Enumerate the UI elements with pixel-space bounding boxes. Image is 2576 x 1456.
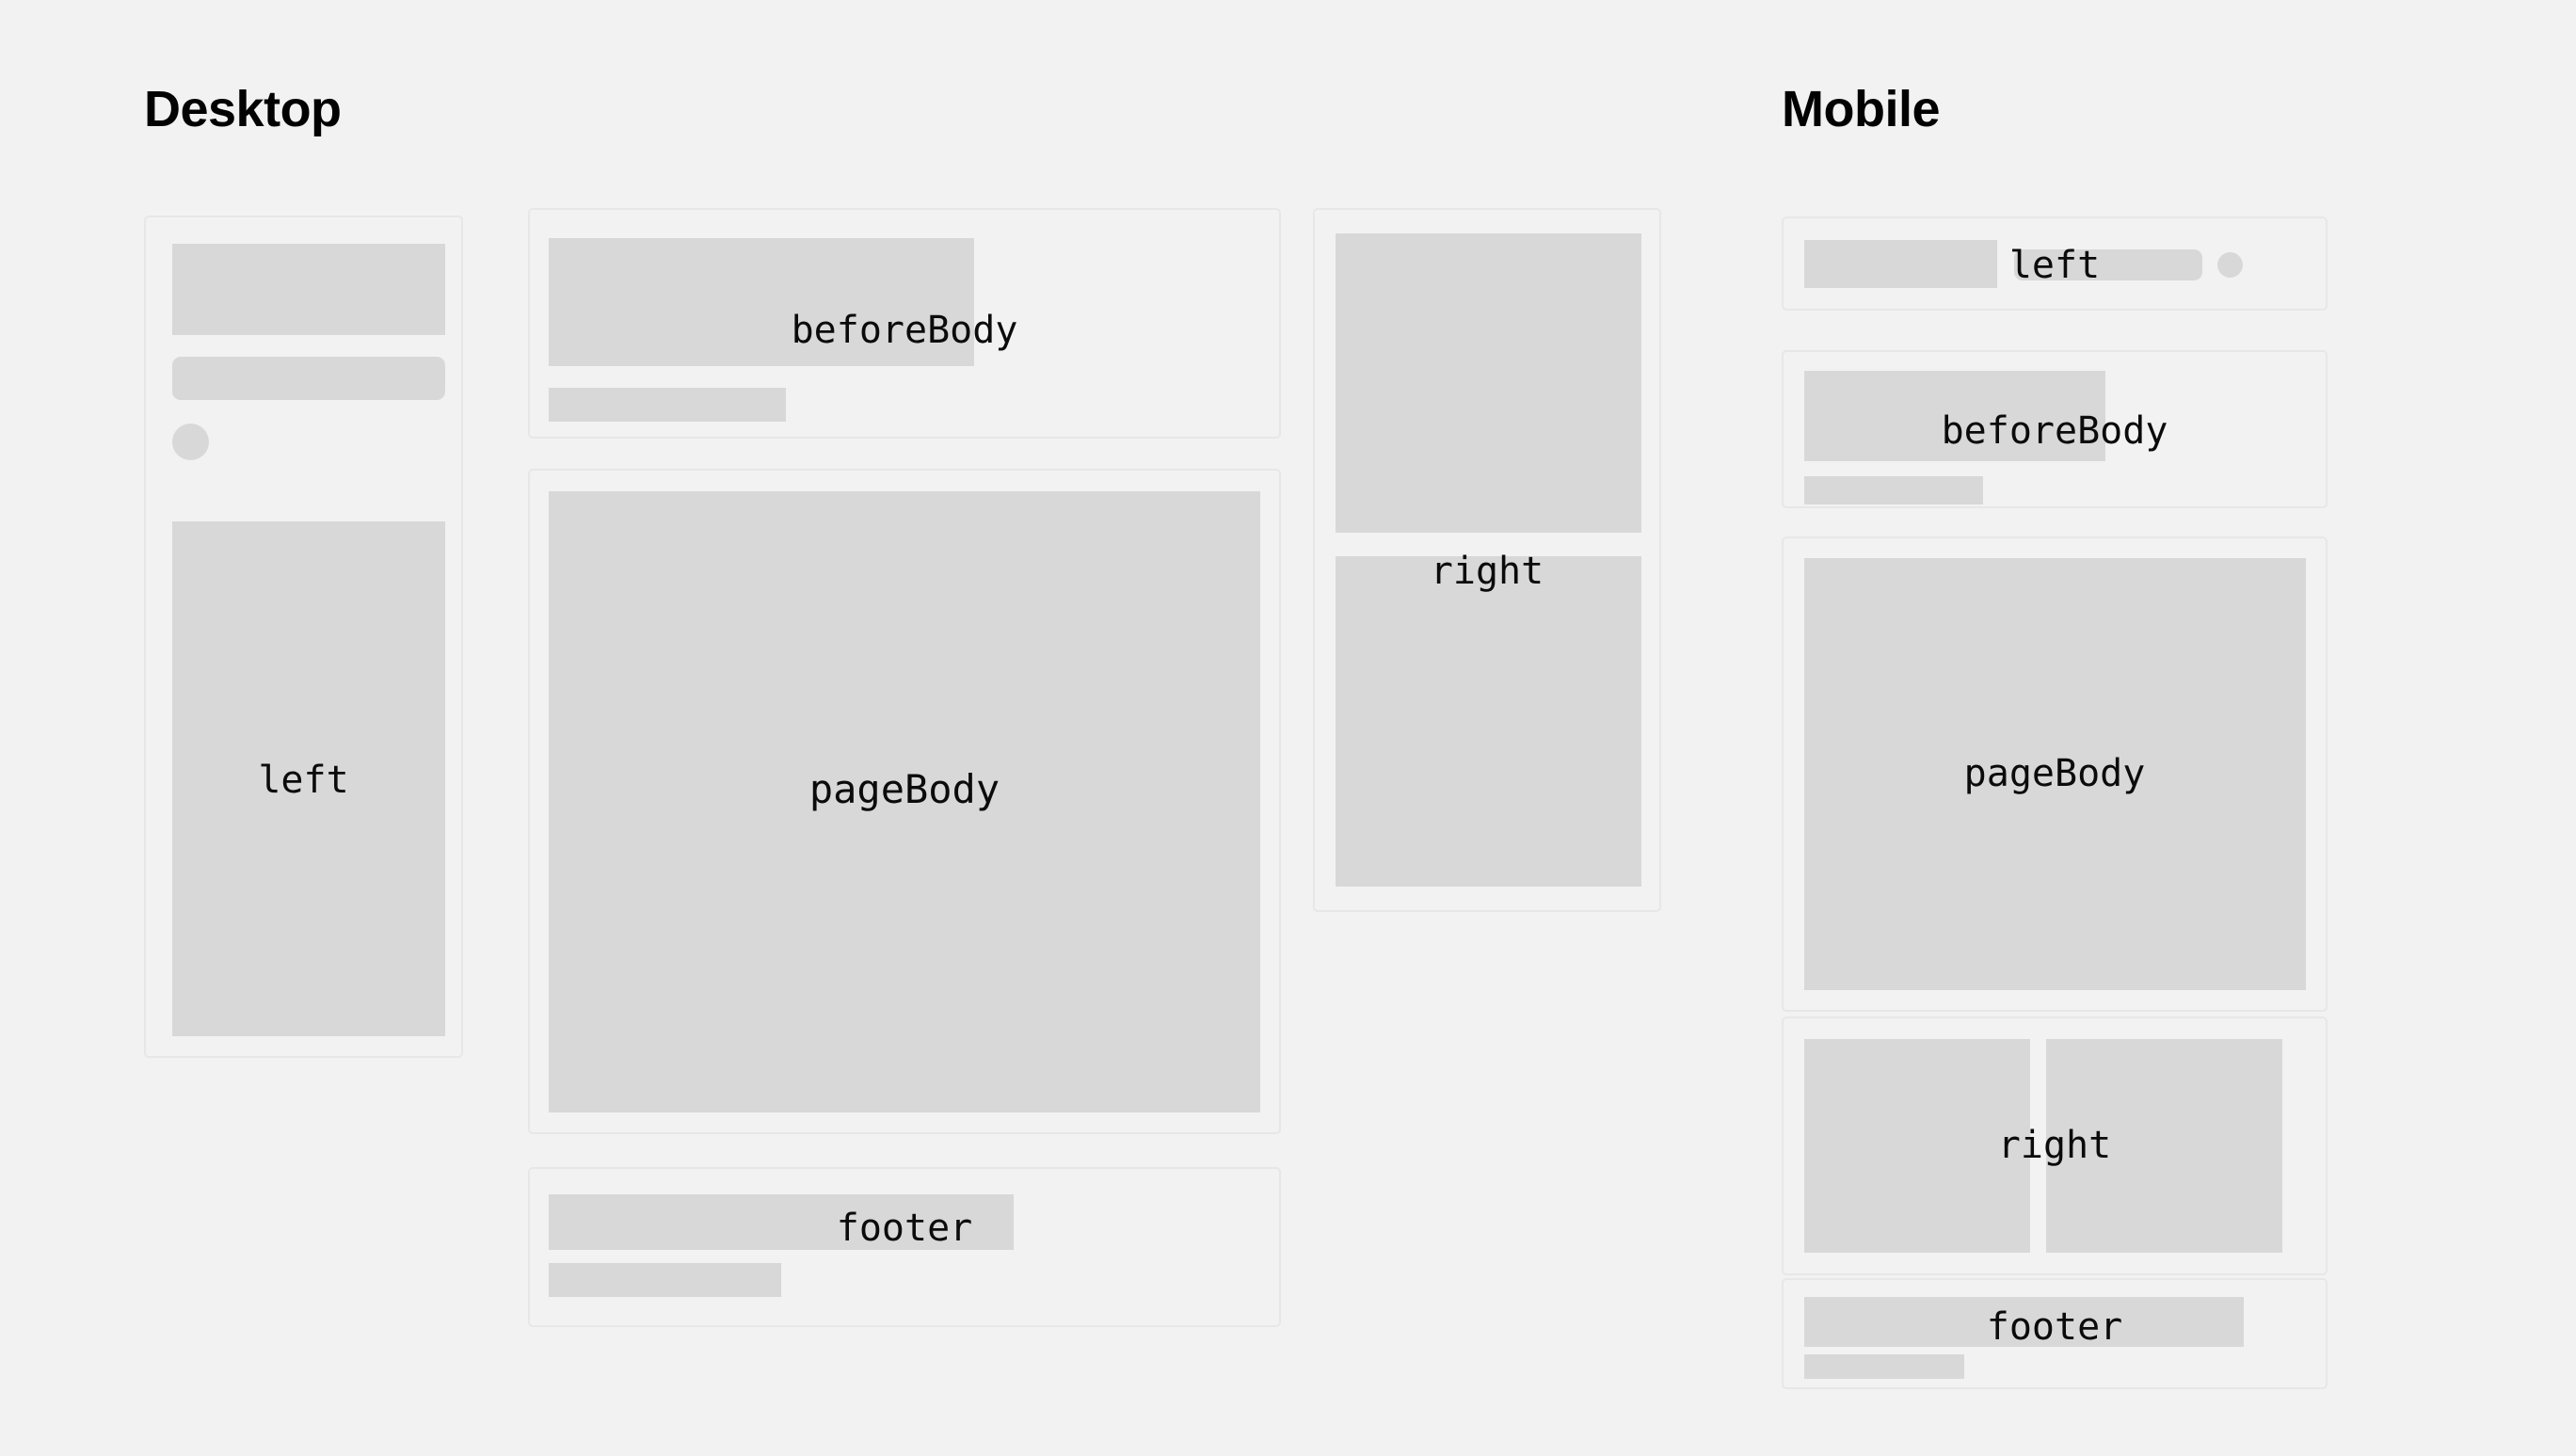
mobile-left-search-pill[interactable] (2014, 249, 2202, 280)
desktop-right-widget-block-top (1336, 233, 1641, 533)
desktop-right-panel[interactable]: right (1313, 208, 1661, 912)
desktop-beforebody-banner-block (549, 238, 974, 366)
desktop-pagebody-content-block (549, 491, 1260, 1112)
desktop-pagebody-panel[interactable]: pageBody (528, 469, 1281, 1134)
desktop-footer-panel[interactable]: footer (528, 1167, 1281, 1327)
desktop-left-panel[interactable]: left (144, 216, 463, 1058)
desktop-left-avatar-circle-icon[interactable] (172, 424, 209, 460)
mobile-pagebody-panel[interactable]: pageBody (1782, 536, 2328, 1012)
desktop-left-header-block (172, 244, 445, 335)
desktop-footer-bar-block (549, 1194, 1014, 1250)
desktop-beforebody-panel[interactable]: beforeBody (528, 208, 1281, 439)
mobile-pagebody-content-block (1804, 558, 2306, 990)
mobile-footer-caption-block (1804, 1354, 1964, 1379)
mobile-footer-panel[interactable]: footer (1782, 1278, 2328, 1389)
mobile-beforebody-panel[interactable]: beforeBody (1782, 350, 2328, 508)
mobile-beforebody-caption-block (1804, 476, 1983, 504)
mobile-left-header-block (1804, 240, 1997, 288)
mobile-right-panel[interactable]: right (1782, 1016, 2328, 1275)
mobile-right-widget-block-right (2046, 1039, 2282, 1253)
mobile-right-widget-block-left (1804, 1039, 2030, 1253)
desktop-column-title: Desktop (144, 84, 342, 135)
mobile-footer-bar-block (1804, 1297, 2244, 1347)
wireframe-canvas: Desktop left beforeBody pageBody right f… (0, 0, 2576, 1456)
mobile-beforebody-banner-block (1804, 371, 2105, 461)
desktop-left-nav-block (172, 521, 445, 1036)
desktop-footer-caption-block (549, 1263, 781, 1297)
mobile-column-title: Mobile (1782, 84, 1940, 135)
desktop-beforebody-caption-block (549, 388, 786, 422)
mobile-left-avatar-circle-icon[interactable] (2217, 252, 2243, 278)
desktop-right-widget-block-bottom (1336, 556, 1641, 887)
mobile-left-panel[interactable]: left (1782, 216, 2328, 311)
desktop-left-search-block[interactable] (172, 357, 445, 400)
